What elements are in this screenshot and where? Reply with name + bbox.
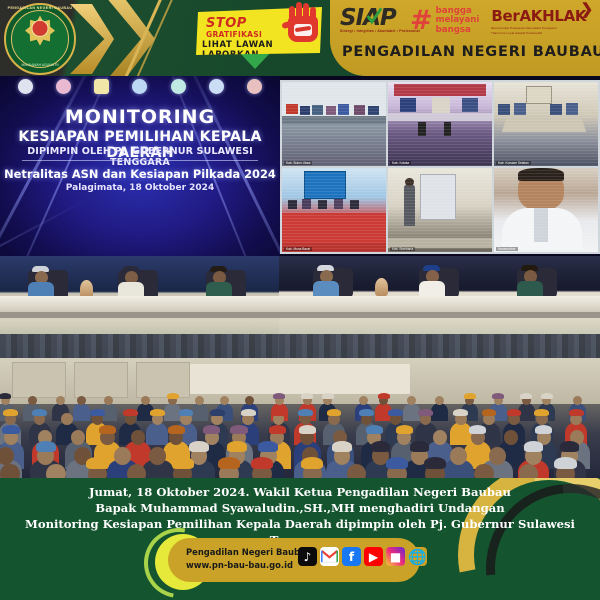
red-hand-icon [280,0,326,46]
audience-member-hat [90,409,105,416]
audience-member-hat [0,393,11,399]
berakhlak-arrow-icon: ❯ [581,0,594,18]
court-title: PENGADILAN NEGERI BAUBAU KELAS 1B [342,44,600,60]
audience-member-hat [507,409,522,416]
video-panel-4-label: Kab. Muna Barat [284,247,312,251]
audience-member-hat [378,393,390,399]
video-panel-6-label: Narasumber [496,247,518,251]
header-banner: PENGADILAN NEGERI BAUBAU MAHKAMAH AGUNG … [0,0,600,78]
institution-logo-1 [18,79,33,94]
audience-member-hat [241,409,256,416]
video-panel-4: Kab. Muna Barat [282,168,386,252]
audience-member-hat [482,409,497,416]
panel-desk-left [0,296,279,312]
panel-desk-right [279,296,600,312]
audience-member-hat [189,441,209,451]
audience-member-hat [366,425,383,434]
audience-member-head [131,430,145,445]
berakhlak-subtitle-2: Harmonis Loyal Adaptif Kolaboratif [491,31,586,35]
audience-member-hat [218,457,240,469]
institution-logos-row [18,78,262,94]
audience-member-head [149,447,166,465]
audience-member-hat [301,457,323,469]
audience-member-hat [301,393,313,399]
institution-logo-4 [132,79,147,94]
video-panel-5-label: Kab. Bombana [390,247,415,251]
audience-member-hat [2,425,19,434]
siap-logo-subtitle: Sinergi • Integritas • Akuntabel • Profe… [340,29,420,33]
bangga-logo-lines: bangga melayani bangsa [436,7,480,35]
audience-member-hat [86,457,108,469]
audience-member-hat [386,457,408,469]
audience-member-hat [541,393,553,399]
audience-member-hat [251,457,273,469]
audience-member-head [28,396,37,405]
audience-member-hat [227,441,247,451]
video-conference-grid: Kab. Buton Utara Kab. Kolaka [280,80,600,254]
audience-member-hat [322,393,334,399]
audience-member-hat [150,409,165,416]
audience-member-hat [464,393,476,399]
siap-logo: SIAP Sinergi • Integritas • Akuntabel • … [340,6,402,36]
caption-line-2: Bapak Muhammad Syawaludin.,SH.,MH mengha… [0,500,600,516]
audience-member-head [71,430,85,445]
audience-member-hat [410,441,430,451]
audience-member-hat [332,441,352,451]
audience-member-hat [168,425,185,434]
video-panel-3-label: Kab. Konawe Selatan [496,161,531,165]
berakhlak-logo: BerAKHLAK ❯ Berorientasi Pelayanan Akunt… [491,7,586,35]
institution-logo-6 [209,79,224,94]
audience-member-hat [3,409,18,416]
background-crowd-left [0,334,279,360]
youtube-icon[interactable]: ▶ [364,547,383,566]
bangga-melayani-bangsa-logo: # bangga melayani bangsa [410,7,479,35]
social-media-icons: ♪ f ▶ ■ 🌐 [298,547,427,566]
video-scanlines [282,82,386,166]
audience-member-hat [359,409,374,416]
audience-member-hat [298,409,313,416]
audience-member-hat [492,393,504,399]
screen-title: MONITORING [0,106,280,128]
audience-member-hat [371,441,391,451]
background-crowd-right [279,334,600,360]
audience-member-head [114,447,131,465]
panel-photos-band [0,256,600,360]
berakhlak-logo-text: BerAKHLAK [491,7,586,25]
audience-member-hat [269,425,286,434]
audience-member-body [431,403,448,421]
emblem-top-text: PENGADILAN NEGERI BAUBAU [4,6,76,10]
video-panel-6: Narasumber [494,168,598,252]
panel-photo-left [0,256,279,360]
audience-member-hat [396,425,413,434]
footer-website[interactable]: www.pn-bau-bau.go.id [186,560,293,570]
audience-member-hat [210,409,225,416]
gold-ribbon: SIAP Sinergi • Integritas • Akuntabel • … [330,0,600,76]
institution-logo-2 [56,79,71,94]
footer-caption-bar: Jumat, 18 Oktober 2024. Wakil Ketua Peng… [0,478,600,600]
poster-root: PENGADILAN NEGERI BAUBAU MAHKAMAH AGUNG … [0,0,600,600]
audience-member-body [191,403,208,421]
audience-member-hat [534,409,549,416]
audience-member-head [195,396,204,405]
audience-member-hat [424,457,446,469]
stage-photo: MONITORING KESIAPAN PEMILIHAN KEPALA DAE… [0,76,600,258]
audience-member-head [504,430,518,445]
audience-member-hat [388,409,403,416]
tiktok-icon[interactable]: ♪ [298,547,317,566]
audience-member-hat [179,409,194,416]
screen-subtitle-3: Netralitas ASN dan Kesiapan Pilkada 2024 [0,167,280,181]
screen-subtitle-4: Palagimata, 18 Oktober 2024 [0,183,280,193]
audience-member-hat [299,425,316,434]
audience-member-body [146,422,168,445]
website-icon[interactable]: 🌐 [408,547,427,566]
audience-member-head [61,413,73,425]
audience-member-hat [327,409,342,416]
audience-member-hat [123,409,138,416]
audience-member-hat [36,441,56,451]
gratifikasi-label: GRATIFIKASI [206,30,262,39]
audience-member-hat [520,393,532,399]
audience-member-head [489,447,506,465]
audience-photo [0,358,600,480]
panel-photo-right [279,256,600,360]
front-stage-table [190,362,410,394]
audience-member-hat [569,409,584,416]
presentation-screen: MONITORING KESIAPAN PEMILIHAN KEPALA DAE… [0,76,280,258]
audience-member-body [450,422,472,445]
footer-org-name: Pengadilan Negeri Baubau [186,547,312,557]
screen-divider [22,160,258,161]
video-panel-2: Kab. Kolaka [388,82,492,166]
video-panel-3: Kab. Konawe Selatan [494,82,598,166]
table-lamp-icon-2 [375,278,388,296]
siap-checkmark-icon [366,6,383,26]
audience-member-hat [172,457,194,469]
audience-member-hat [524,441,544,451]
audience-member-hat [203,425,220,434]
video-panel-5: Kab. Bombana [388,168,492,252]
video-panel-2-label: Kab. Kolaka [390,161,411,165]
berakhlak-subtitle-1: Berorientasi Pelayanan Akuntabel Kompete… [491,26,586,30]
video-panel-1: Kab. Buton Utara [282,82,386,166]
audience-member-head [450,447,467,465]
audience-member-hat [271,409,286,416]
video-panel-1-label: Kab. Buton Utara [284,161,312,165]
institution-logo-5 [171,79,186,94]
institution-logo-3 [94,79,109,94]
audience-member-hat [258,441,278,451]
court-emblem-logo: PENGADILAN NEGERI BAUBAU MAHKAMAH AGUNG … [4,3,76,75]
audience-member-hat [453,409,468,416]
audience-member-hat [554,457,576,469]
program-logos-row: SIAP Sinergi • Integritas • Akuntabel • … [340,4,586,38]
stop-gratifikasi-banner: STOP GRATIFIKASI LIHAT LAWAN LAPORKAN [196,2,336,72]
bangga-line-3: bangsa [436,26,480,35]
gmail-icon[interactable] [320,547,339,566]
audience-member-body [73,403,90,421]
facebook-icon[interactable]: f [342,547,361,566]
instagram-icon[interactable]: ■ [386,547,405,566]
audience-member-hat [167,393,179,399]
audience-member-hat [230,425,247,434]
caption-line-1: Jumat, 18 Oktober 2024. Wakil Ketua Peng… [0,484,600,500]
emblem-bottom-text: MAHKAMAH AGUNG RI [4,63,76,67]
audience-member-body [403,403,420,421]
audience-member-hat [535,425,552,434]
audience-member-head [433,430,447,445]
stop-label: STOP [206,16,247,31]
audience-member-hat [273,393,285,399]
audience-member-hat [560,441,580,451]
audience-member-hat [469,425,486,434]
audience-member-hat [32,409,47,416]
audience-member-hat [418,409,433,416]
audience-member-hat [99,425,116,434]
screen-subtitle-2: DIPIMPIN OLEH Pj. GUBERNUR SULAWESI TENG… [0,146,280,168]
institution-logo-7 [247,79,262,94]
emblem-center-icon [32,19,49,36]
